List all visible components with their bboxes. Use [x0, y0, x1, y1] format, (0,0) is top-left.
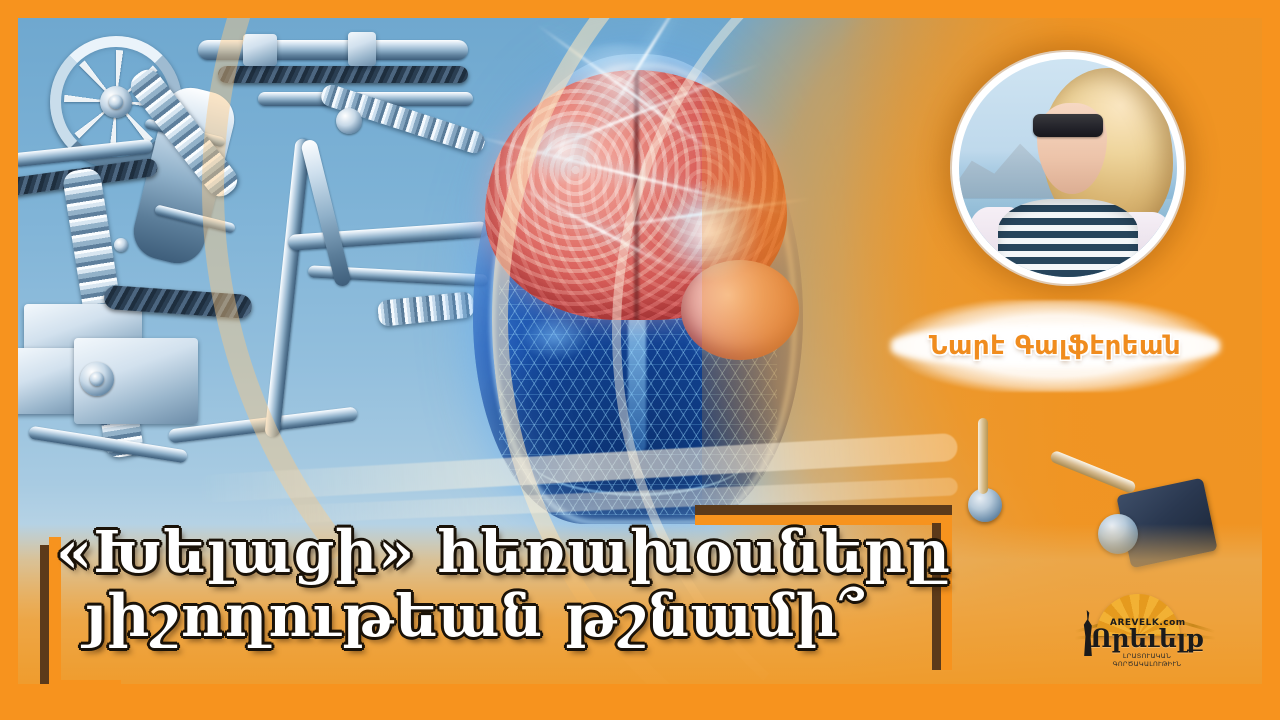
motor-flange — [1098, 514, 1138, 554]
knob-right — [336, 108, 362, 134]
module-dial-core — [90, 372, 104, 386]
presenter-name-banner: Նարէ Գալֆէրեան — [880, 300, 1230, 392]
logo-wordmark: Որեւելք — [1088, 626, 1206, 651]
coupler-block-b — [348, 32, 376, 66]
presenter-name: Նարէ Գալֆէրեան — [880, 300, 1230, 392]
hose-horizontal-top — [218, 66, 468, 83]
title-line-1: «Խելացի» հեռախօսները — [56, 523, 895, 581]
coupler-block-a — [243, 34, 277, 66]
thumbnail-canvas: Նարէ Գալֆէրեան «Խելացի» հեռախօսները յիշո… — [0, 0, 1280, 720]
valve-stem — [978, 418, 988, 494]
pipe-horizontal-top — [198, 40, 468, 60]
machinery-cluster — [18, 18, 488, 518]
title-block: «Խելացի» հեռախօսները յիշողութեան թշնամի՞ — [56, 523, 895, 645]
pipe-vertical-right — [264, 138, 310, 438]
longitudinal-fissure — [634, 70, 639, 320]
arevelk-logo[interactable]: AREVELK.com Որեւելք ԼՐԱՏՈՒԱԿԱՆ ԳՈՐԾԱԿԱԼՈ… — [1070, 592, 1220, 670]
arm-bolt-1 — [114, 238, 128, 252]
cerebellum — [681, 260, 799, 360]
striped-top — [998, 199, 1138, 277]
jaw-arc — [526, 411, 750, 496]
brain-head-illustration — [433, 28, 853, 528]
title-plate: «Խելացի» հեռախօսները յիշողութեան թշնամի՞ — [40, 505, 965, 684]
eye-socket-left — [519, 317, 591, 361]
sunglasses-icon — [1033, 114, 1103, 138]
artwork-photo: Նարէ Գալֆէրեան «Խելացի» հեռախօսները յիշո… — [18, 18, 1262, 684]
avatar-photo — [959, 59, 1177, 277]
gear-hub-core — [109, 95, 123, 109]
avatar — [952, 52, 1184, 284]
logo-subtitle: ԼՐԱՏՈՒԱԿԱՆ ԳՈՐԾԱԿԱԼՈՒԹԻՒՆ — [1088, 652, 1206, 668]
title-line-2: յիշողութեան թշնամի՞ — [56, 587, 895, 645]
